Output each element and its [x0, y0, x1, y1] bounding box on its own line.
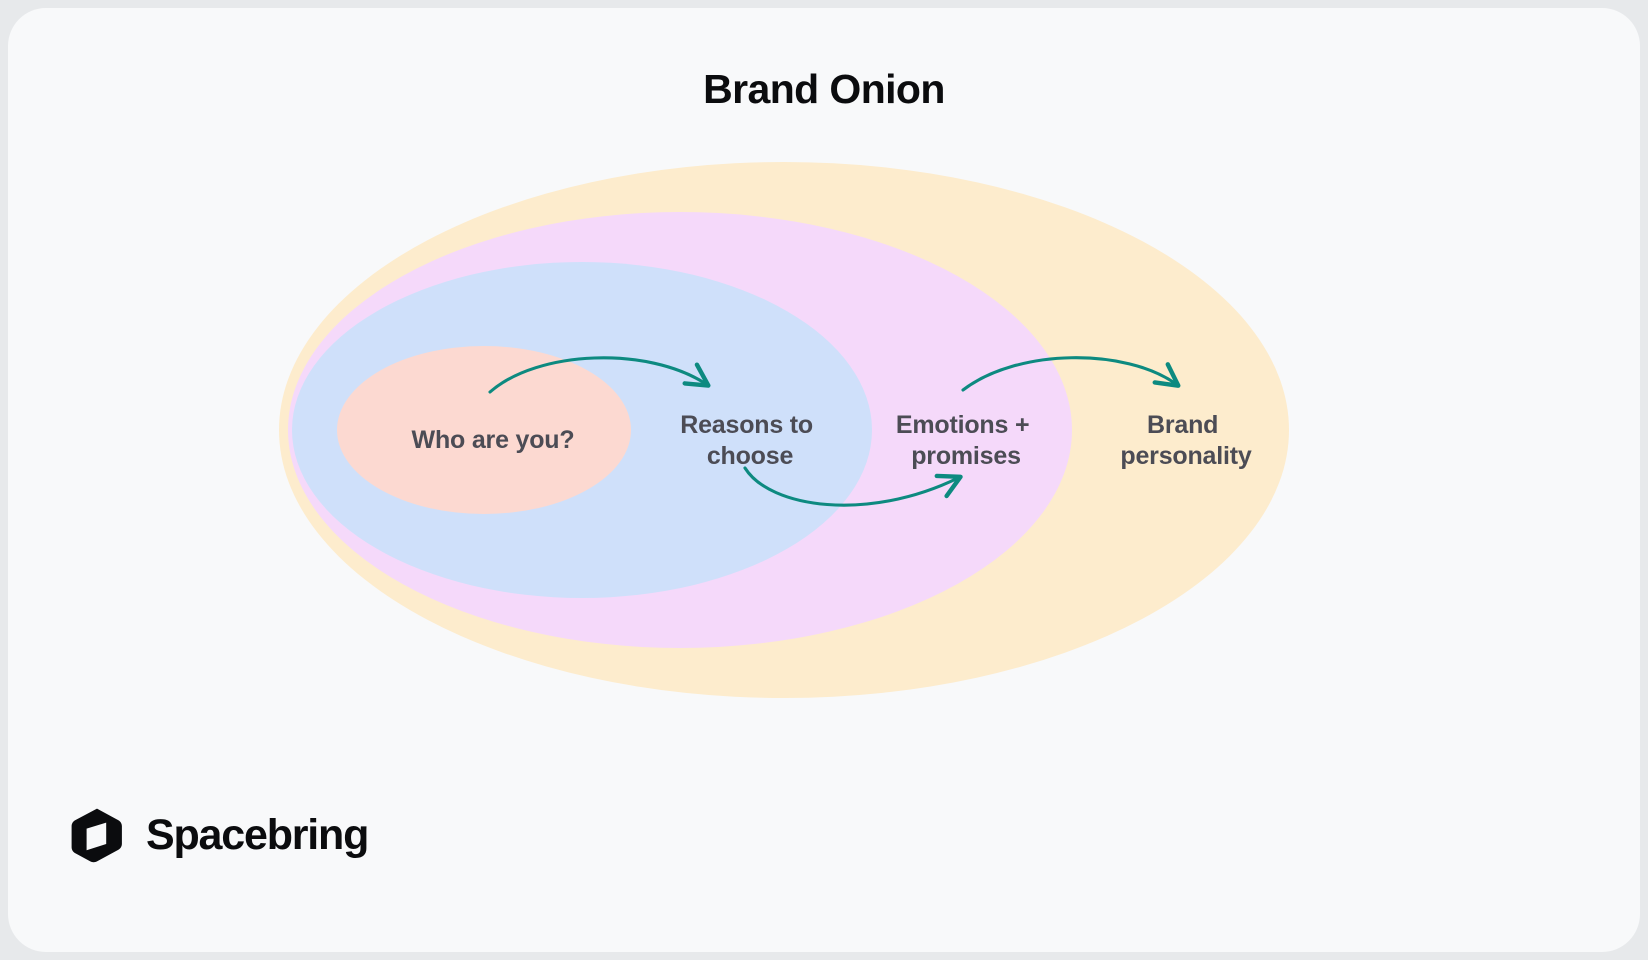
onion-svg-canvas: Who are you? Reasons to choose Emotions …: [8, 158, 1640, 738]
brand-logo: Spacebring: [70, 806, 368, 864]
onion-label-core: Who are you?: [412, 426, 575, 454]
brand-onion-diagram: Who are you? Reasons to choose Emotions …: [8, 158, 1640, 738]
brand-wordmark: Spacebring: [146, 814, 368, 857]
page-title: Brand Onion: [8, 66, 1640, 113]
spacebring-cube-icon: [70, 806, 124, 864]
content-card: Brand Onion Who are: [8, 8, 1640, 952]
